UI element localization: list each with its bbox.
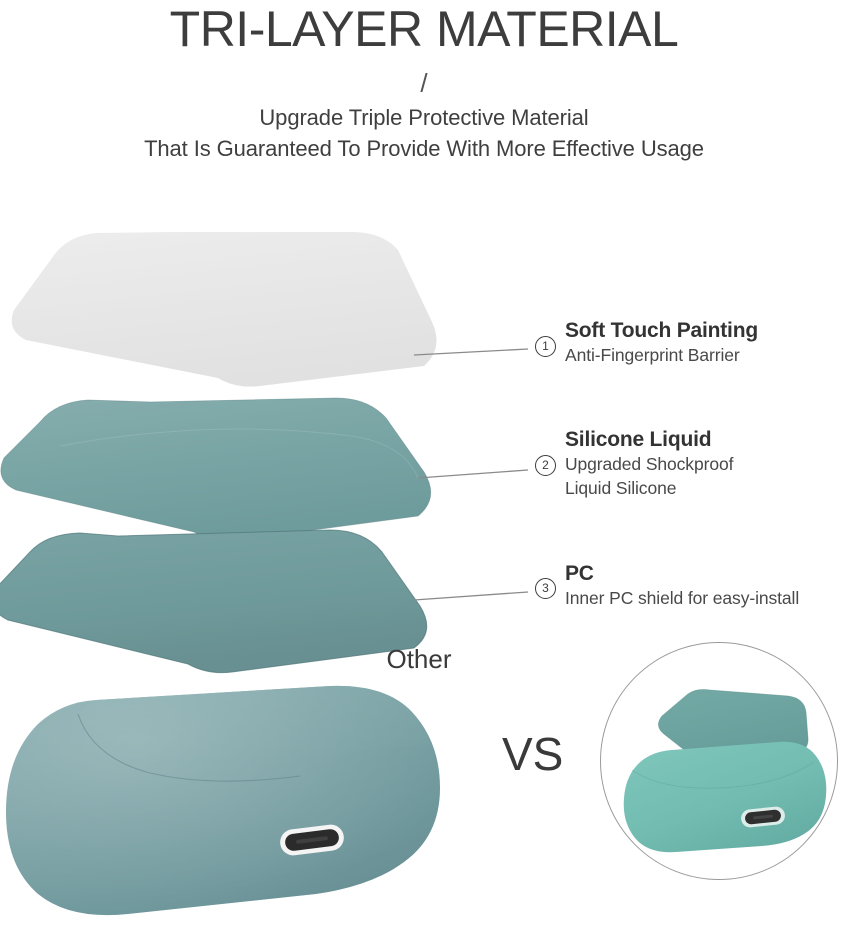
callout-number-3: 3 bbox=[535, 578, 556, 599]
subtitle-line-1: Upgrade Triple Protective Material bbox=[0, 102, 848, 133]
header-block: TRI-LAYER MATERIAL / Upgrade Triple Prot… bbox=[0, 0, 848, 164]
callout-title-2: Silicone Liquid bbox=[565, 427, 733, 453]
vs-label: VS bbox=[502, 731, 563, 777]
page-title: TRI-LAYER MATERIAL bbox=[0, 0, 848, 56]
title-separator: / bbox=[0, 70, 848, 96]
pc-shield-layer bbox=[0, 530, 427, 673]
callout-text-1: Soft Touch Painting Anti-Fingerprint Bar… bbox=[565, 318, 758, 368]
callout-soft-touch-painting: 1 Soft Touch Painting Anti-Fingerprint B… bbox=[535, 336, 758, 368]
callout-text-2: Silicone Liquid Upgraded Shockproof Liqu… bbox=[565, 427, 733, 500]
callout-title-3: PC bbox=[565, 561, 799, 587]
other-comparison-circle bbox=[600, 642, 838, 880]
silicone-liquid-layer bbox=[1, 398, 431, 541]
callout-pc-shield: 3 PC Inner PC shield for easy-install bbox=[535, 578, 799, 611]
callout-silicone-liquid: 2 Silicone Liquid Upgraded Shockproof Li… bbox=[535, 455, 733, 500]
leader-line-1 bbox=[414, 349, 528, 355]
callout-title-1: Soft Touch Painting bbox=[565, 318, 758, 344]
soft-touch-painting-layer bbox=[12, 232, 437, 387]
callout-desc-2-line-1: Upgraded Shockproof bbox=[565, 453, 733, 476]
airpods-case-body bbox=[6, 686, 440, 915]
callout-text-3: PC Inner PC shield for easy-install bbox=[565, 561, 799, 611]
callout-desc-3-line-1: Inner PC shield for easy-install bbox=[565, 587, 799, 610]
callout-desc-1-line-1: Anti-Fingerprint Barrier bbox=[565, 344, 758, 367]
leader-line-3 bbox=[414, 592, 528, 600]
callout-desc-2-line-2: Liquid Silicone bbox=[565, 477, 733, 500]
subtitle-line-2: That Is Guaranteed To Provide With More … bbox=[0, 133, 848, 164]
callout-number-1: 1 bbox=[535, 336, 556, 357]
callout-number-2: 2 bbox=[535, 455, 556, 476]
usb-c-charging-port bbox=[279, 823, 346, 857]
leader-lines bbox=[414, 349, 528, 600]
leader-line-2 bbox=[418, 470, 528, 478]
